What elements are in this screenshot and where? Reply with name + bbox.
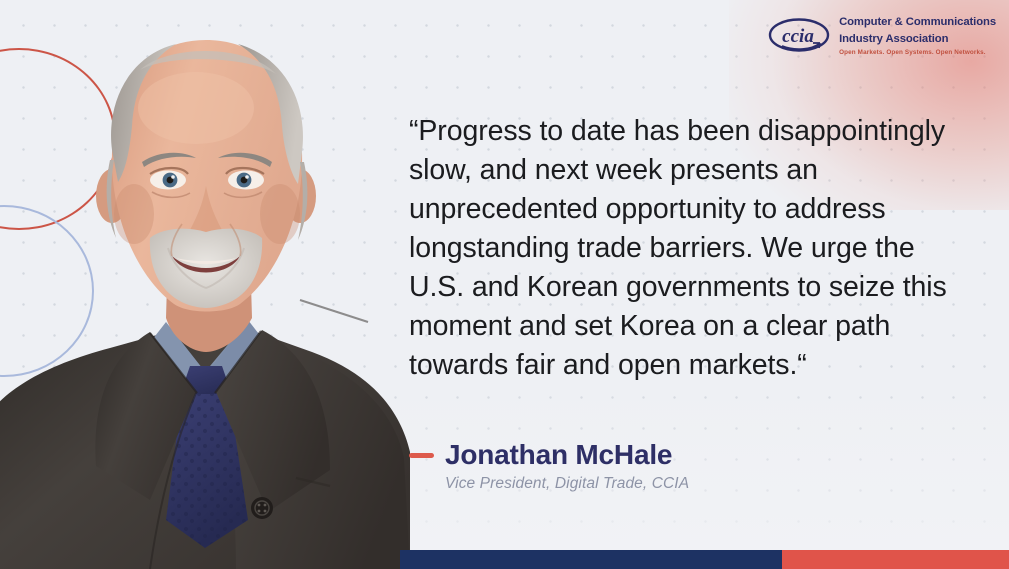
ccia-logo: ccia Computer & Communications Industry … (768, 13, 996, 56)
svg-text:ccia: ccia (782, 26, 814, 47)
ccia-name-line-1: Computer & Communications (839, 16, 996, 28)
bottom-bar-red-segment (782, 550, 1009, 569)
ccia-logomark-icon: ccia (768, 17, 830, 53)
portrait-photo (0, 0, 410, 569)
attribution-name-row: Jonathan McHale (409, 438, 975, 472)
portrait-illustration (0, 0, 410, 569)
ccia-tagline: Open Markets. Open Systems. Open Network… (839, 50, 996, 56)
ccia-name-line-2: Industry Association (839, 33, 948, 45)
attribution: Jonathan McHale Vice President, Digital … (409, 438, 975, 493)
em-dash-icon (409, 453, 434, 458)
quote-text: “Progress to date has been disappointing… (409, 112, 975, 385)
bottom-bar-navy-segment (400, 550, 782, 569)
attribution-name: Jonathan McHale (445, 438, 672, 472)
bottom-color-bar (400, 550, 1009, 569)
attribution-title: Vice President, Digital Trade, CCIA (445, 475, 975, 493)
ccia-logo-text: Computer & Communications Industry Assoc… (839, 13, 996, 56)
quote-card: “Progress to date has been disappointing… (0, 0, 1009, 569)
